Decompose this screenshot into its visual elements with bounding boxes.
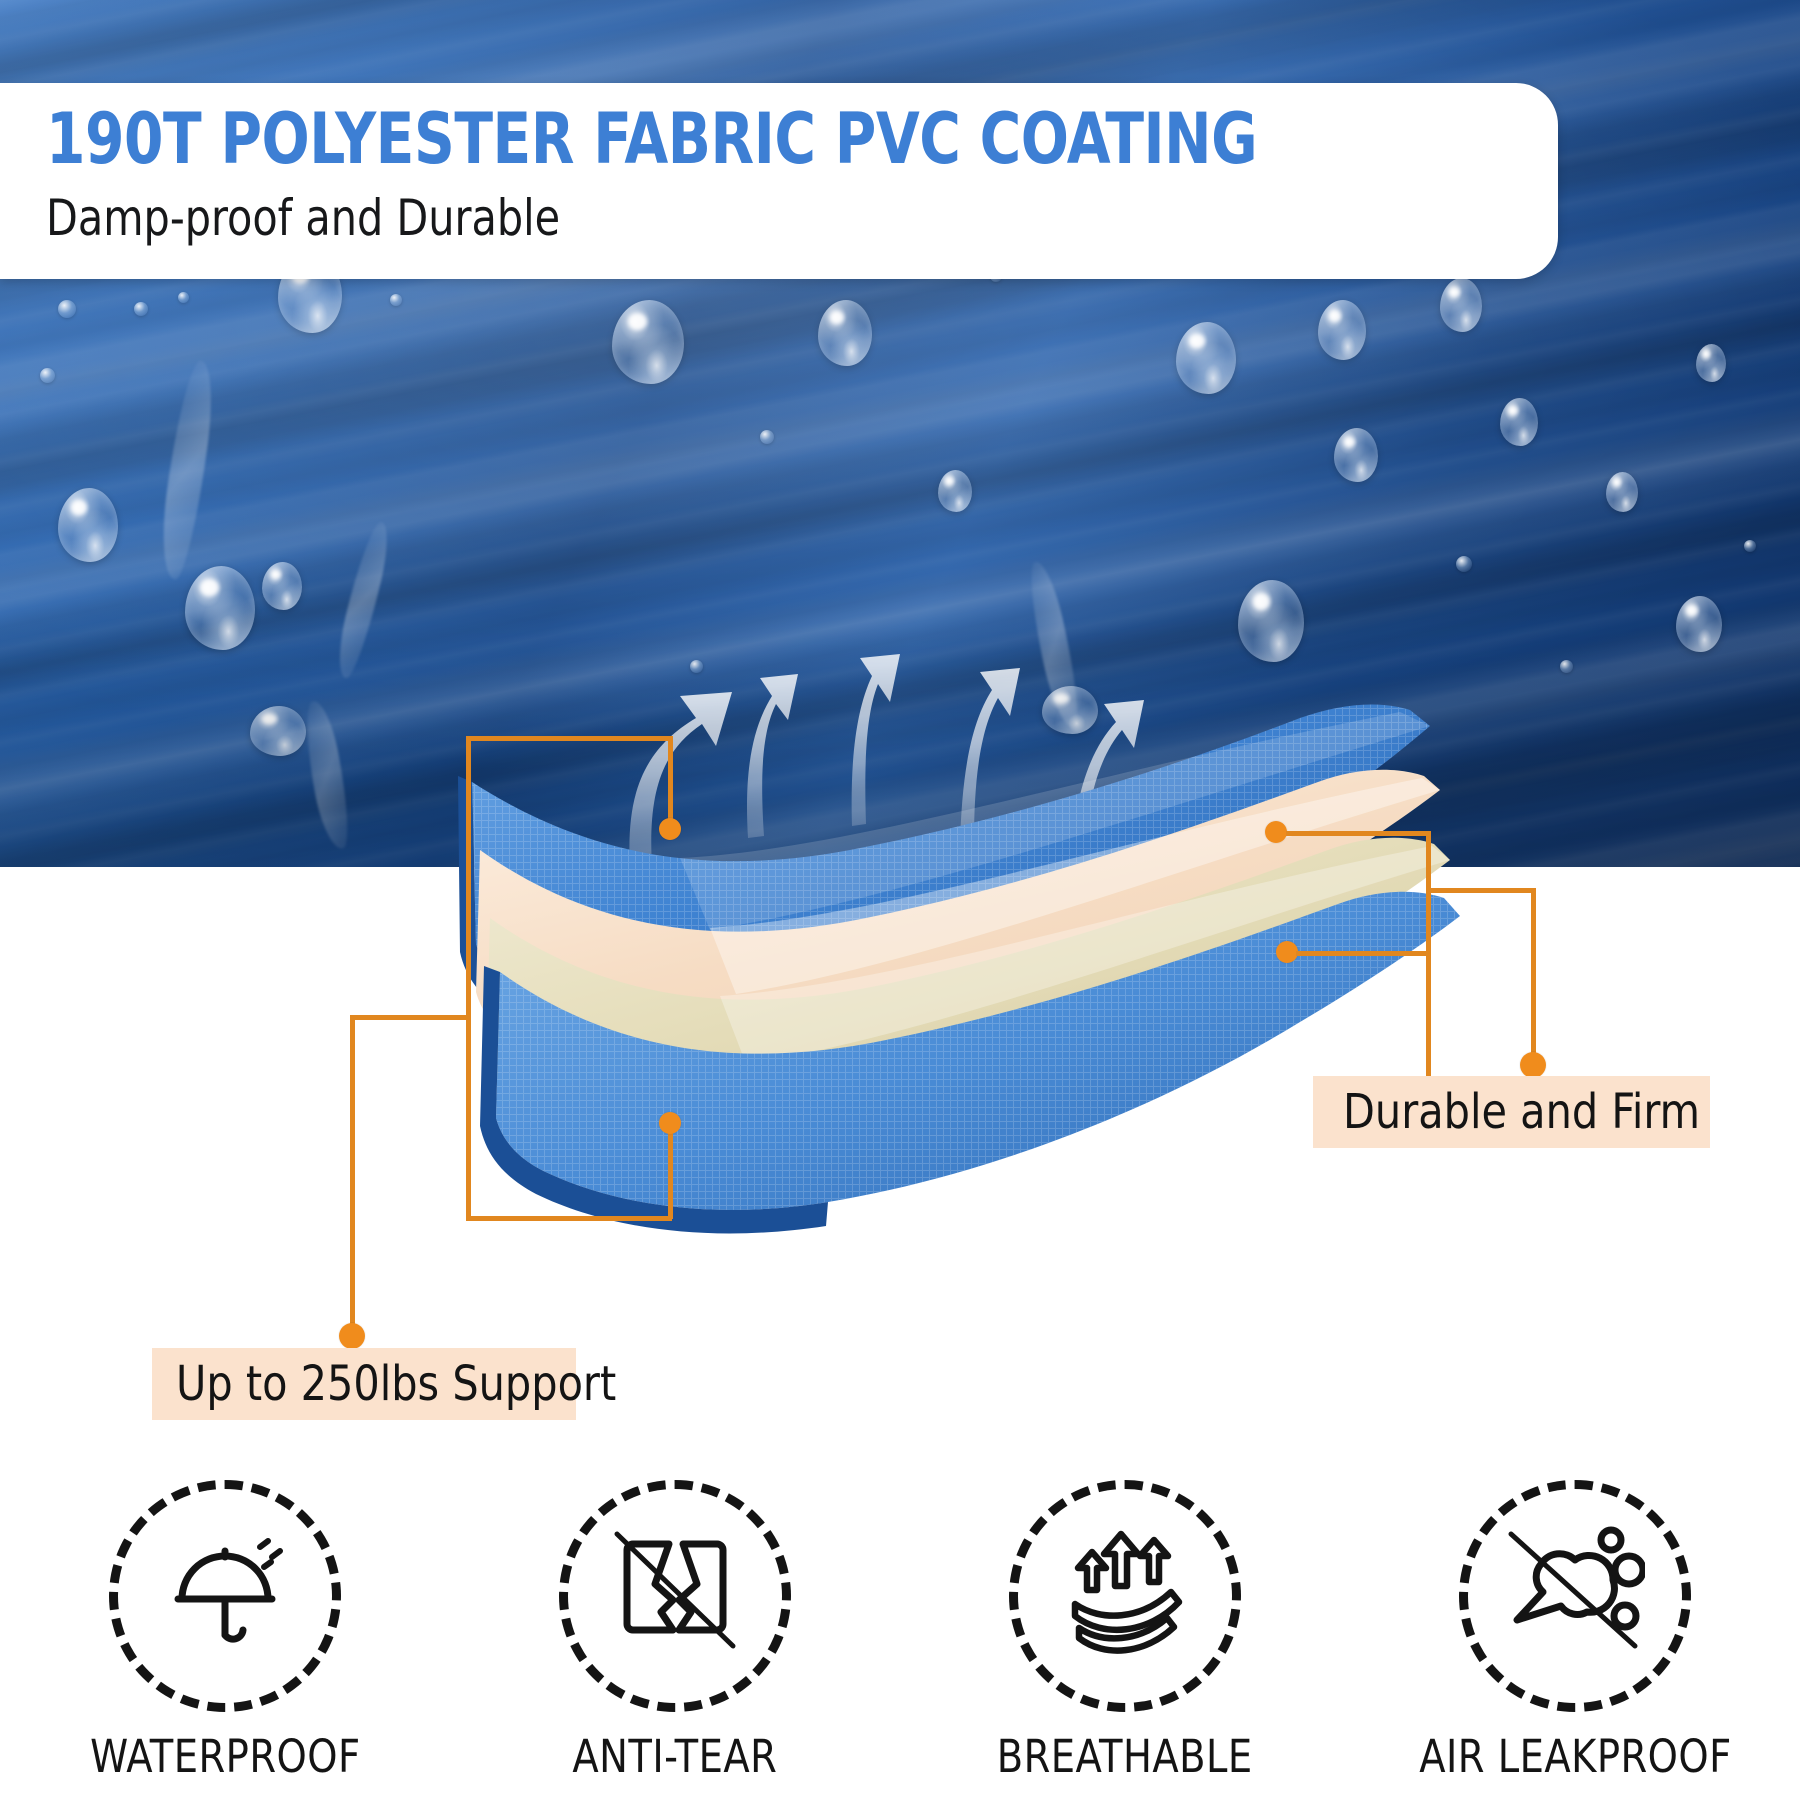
callout-line-vertical	[350, 1015, 355, 1333]
page-subtitle: Damp-proof and Durable	[46, 189, 560, 247]
feature-circle	[109, 1480, 341, 1712]
callout-line-vertical	[1426, 831, 1431, 1100]
feature-circle	[1009, 1480, 1241, 1712]
callout-dot-top-right	[1265, 821, 1287, 843]
callout-line-horizontal	[1296, 951, 1429, 956]
callout-label-durable-text: Durable and Firm	[1343, 1084, 1700, 1140]
feature-air-leakproof: AIR LEAKPROOF	[1365, 1480, 1785, 1783]
callout-line-horizontal	[466, 736, 672, 741]
callout-label-support: Up to 250lbs Support	[152, 1348, 576, 1420]
callout-dot-bottom-right	[1276, 941, 1298, 963]
callout-line-vertical	[466, 736, 471, 1221]
feature-label: BREATHABLE	[997, 1730, 1253, 1783]
feature-circle	[1459, 1480, 1691, 1712]
callout-dot-bottom-layer	[659, 1112, 681, 1134]
callout-line-vertical	[1531, 888, 1536, 1062]
feature-breathable: BREATHABLE	[915, 1480, 1335, 1783]
air-puff-slashed-icon	[1505, 1526, 1645, 1666]
torn-paper-slashed-icon	[607, 1528, 743, 1664]
umbrella-rain-icon	[160, 1531, 290, 1661]
airflow-arrows-fabric-icon	[1057, 1528, 1193, 1664]
feature-icons-row: WATERPROOF ANTI-TEAR	[0, 1480, 1800, 1800]
callout-dot-label-right	[1520, 1052, 1546, 1078]
feature-waterproof: WATERPROOF	[15, 1480, 435, 1783]
infographic-canvas: Up to 250lbs Support Durable and Firm	[0, 0, 1800, 1800]
callout-line-vertical	[668, 736, 673, 828]
callout-dot-top-layer	[659, 818, 681, 840]
callout-label-support-text: Up to 250lbs Support	[176, 1356, 616, 1412]
page-title: 190T POLYESTER FABRIC PVC COATING	[46, 98, 1257, 180]
callout-label-durable: Durable and Firm	[1313, 1076, 1710, 1148]
feature-anti-tear: ANTI-TEAR	[465, 1480, 885, 1783]
callout-line-horizontal	[1426, 888, 1536, 893]
feature-label: AIR LEAKPROOF	[1419, 1730, 1732, 1783]
callout-line-horizontal	[1286, 831, 1429, 836]
callout-line-horizontal	[350, 1015, 470, 1020]
feature-label: ANTI-TEAR	[573, 1730, 778, 1783]
callout-dot-label-left	[339, 1323, 365, 1349]
feature-label: WATERPROOF	[90, 1730, 360, 1783]
callout-line-vertical	[668, 1125, 673, 1219]
callout-line-horizontal	[466, 1216, 672, 1221]
title-banner: 190T POLYESTER FABRIC PVC COATING Damp-p…	[0, 83, 1558, 279]
feature-circle	[559, 1480, 791, 1712]
